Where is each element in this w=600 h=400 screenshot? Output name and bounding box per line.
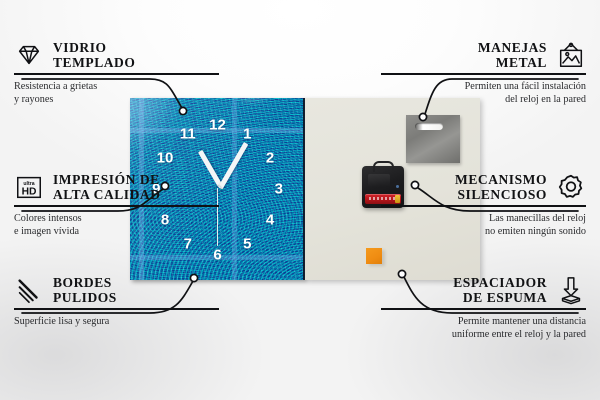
ultra-hd-icon: ultra HD [14, 172, 44, 202]
diamond-icon [14, 40, 44, 70]
feature-rule [14, 73, 219, 75]
feature-header: BORDES PULIDOS [14, 275, 219, 308]
feature-rule [381, 205, 586, 207]
feature-header: MANEJAS METAL [381, 40, 586, 73]
feature-tempered-glass: VIDRIO TEMPLADO Resistencia a grietas y … [14, 40, 219, 106]
feature-polished-edges: BORDES PULIDOS Superficie lisa y segura [14, 275, 219, 328]
clock-numeral-10: 10 [157, 151, 174, 166]
feature-title: BORDES PULIDOS [53, 275, 117, 305]
feature-title: IMPRESIÓN DE ALTA CALIDAD [53, 172, 161, 202]
hanger-plate [406, 115, 460, 163]
feature-subtitle: Colores intensos e imagen vívida [14, 212, 219, 239]
clock-numeral-11: 11 [180, 127, 196, 142]
feature-subtitle: Permite mantener una distancia uniforme … [381, 315, 586, 342]
feature-header: ultra HD IMPRESIÓN DE ALTA CALIDAD [14, 172, 219, 205]
clock-numeral-2: 2 [266, 151, 274, 166]
clock-numeral-3: 3 [275, 182, 283, 197]
feature-header: VIDRIO TEMPLADO [14, 40, 219, 73]
clock-numeral-6: 6 [213, 247, 221, 262]
feature-metal-hangers: MANEJAS METAL Permiten una fácil instala… [381, 40, 586, 106]
feature-subtitle: Resistencia a grietas y rayones [14, 80, 219, 107]
mechanism-hanging-loop [373, 161, 394, 172]
arrow-down-layers-icon [556, 275, 586, 305]
hanger-keyhole-slot [415, 123, 443, 130]
feature-title: ESPACIADOR DE ESPUMA [453, 275, 547, 305]
clock-numeral-1: 1 [243, 127, 251, 142]
clock-numeral-4: 4 [266, 212, 274, 227]
feature-rule [14, 205, 219, 207]
feature-title: VIDRIO TEMPLADO [53, 40, 135, 70]
feature-rule [381, 73, 586, 75]
feature-subtitle: Las manecillas del reloj no emiten ningú… [381, 212, 586, 239]
svg-text:HD: HD [22, 187, 37, 198]
feature-rule [381, 308, 586, 310]
diagonal-lines-icon [14, 275, 44, 305]
feature-title: MECANISMO SILENCIOSO [455, 172, 547, 202]
feature-subtitle: Permiten una fácil instalación del reloj… [381, 80, 586, 107]
feature-title: MANEJAS METAL [478, 40, 547, 70]
feature-silent-mechanism: MECANISMO SILENCIOSO Las manecillas del … [381, 172, 586, 238]
feature-foam-spacer: ESPACIADOR DE ESPUMA Permite mantener un… [381, 275, 586, 341]
foam-spacer [366, 248, 382, 264]
gear-icon [556, 172, 586, 202]
clock-numeral-5: 5 [243, 236, 251, 251]
feature-hd-print: ultra HD IMPRESIÓN DE ALTA CALIDAD Color… [14, 172, 219, 238]
feature-header: MECANISMO SILENCIOSO [381, 172, 586, 205]
clock-numeral-12: 12 [209, 118, 226, 133]
feature-header: ESPACIADOR DE ESPUMA [381, 275, 586, 308]
clock-numeral-7: 7 [184, 236, 192, 251]
feature-rule [14, 308, 219, 310]
picture-frame-icon [556, 40, 586, 70]
feature-subtitle: Superficie lisa y segura [14, 315, 219, 328]
